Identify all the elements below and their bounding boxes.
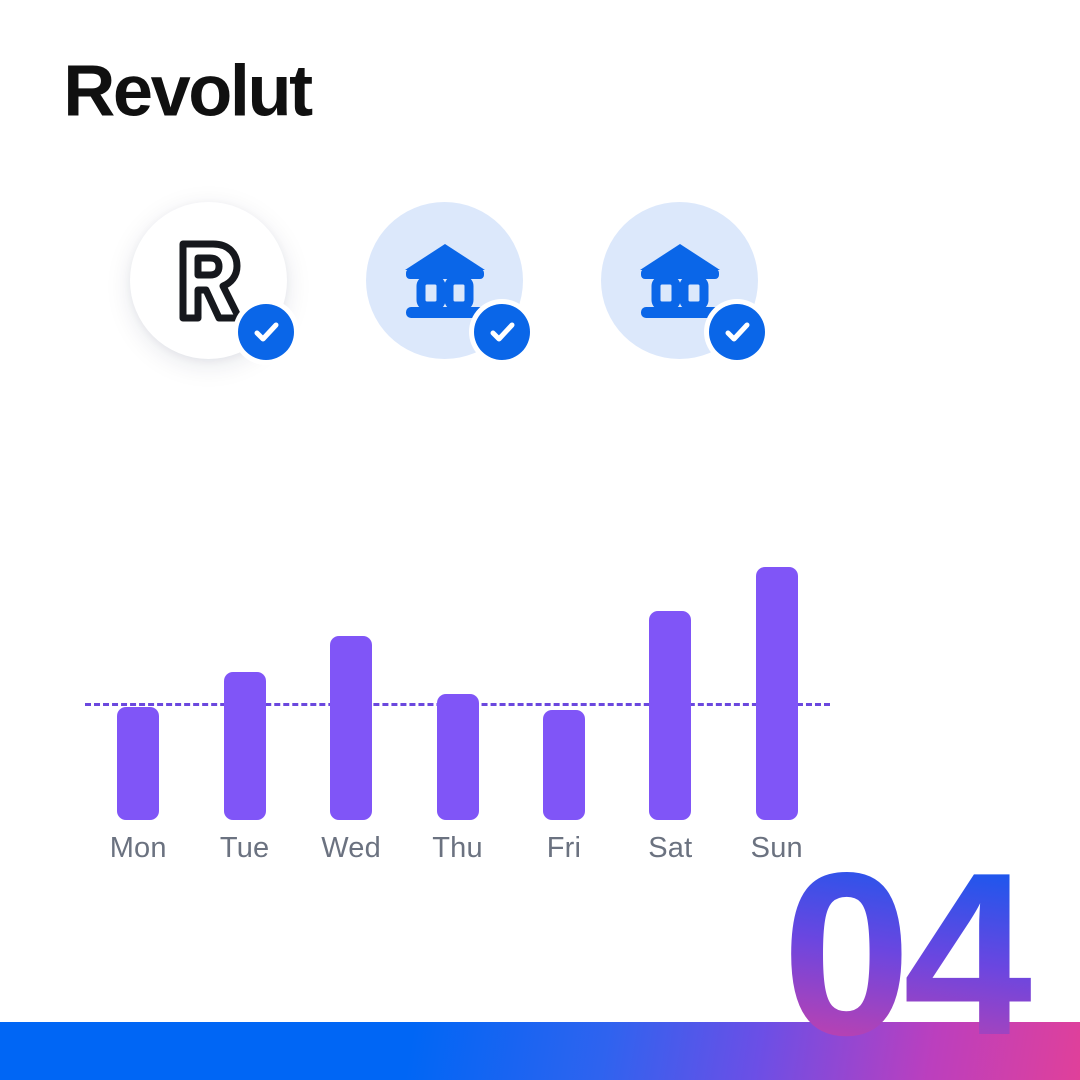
revolut-wordmark: Revolut (58, 55, 478, 133)
bank-icon (402, 242, 488, 320)
verified-badge (704, 299, 770, 365)
verified-badge-circle (238, 304, 294, 360)
check-icon (721, 316, 753, 348)
revolut-r-icon (173, 238, 245, 324)
verified-badge-circle (474, 304, 530, 360)
verified-badge (469, 299, 535, 365)
bank-icon (637, 242, 723, 320)
slide-number: 04 (788, 862, 1080, 1052)
weekly-spending-chart: MonTueWedThuFriSatSun (85, 545, 830, 890)
check-icon (486, 316, 518, 348)
chart-bar[interactable] (649, 611, 691, 820)
verified-badge (233, 299, 299, 365)
chart-x-label: Mon (83, 828, 193, 868)
verified-badge-circle (709, 304, 765, 360)
chart-bar[interactable] (437, 694, 479, 821)
chart-x-label: Wed (296, 828, 406, 868)
account-tile-bank-2[interactable] (601, 202, 758, 359)
account-tile-revolut[interactable] (130, 202, 287, 359)
chart-bar[interactable] (543, 710, 585, 820)
slide-number-text: 04 (788, 862, 1031, 1052)
chart-x-label: Tue (190, 828, 300, 868)
chart-bar[interactable] (756, 567, 798, 820)
chart-plot-area (85, 545, 830, 820)
chart-bar[interactable] (224, 672, 266, 821)
linked-accounts-row (130, 202, 830, 382)
chart-bar[interactable] (117, 707, 159, 820)
check-icon (250, 316, 282, 348)
chart-x-label: Thu (403, 828, 513, 868)
chart-bars (85, 545, 830, 820)
wordmark-text: Revolut (63, 55, 313, 131)
chart-x-axis-labels: MonTueWedThuFriSatSun (85, 828, 830, 872)
slide-canvas: Revolut Revolut (0, 0, 1080, 1080)
chart-x-label: Fri (509, 828, 619, 868)
chart-x-label: Sat (615, 828, 725, 868)
chart-bar[interactable] (330, 636, 372, 820)
account-tile-bank-1[interactable] (366, 202, 523, 359)
